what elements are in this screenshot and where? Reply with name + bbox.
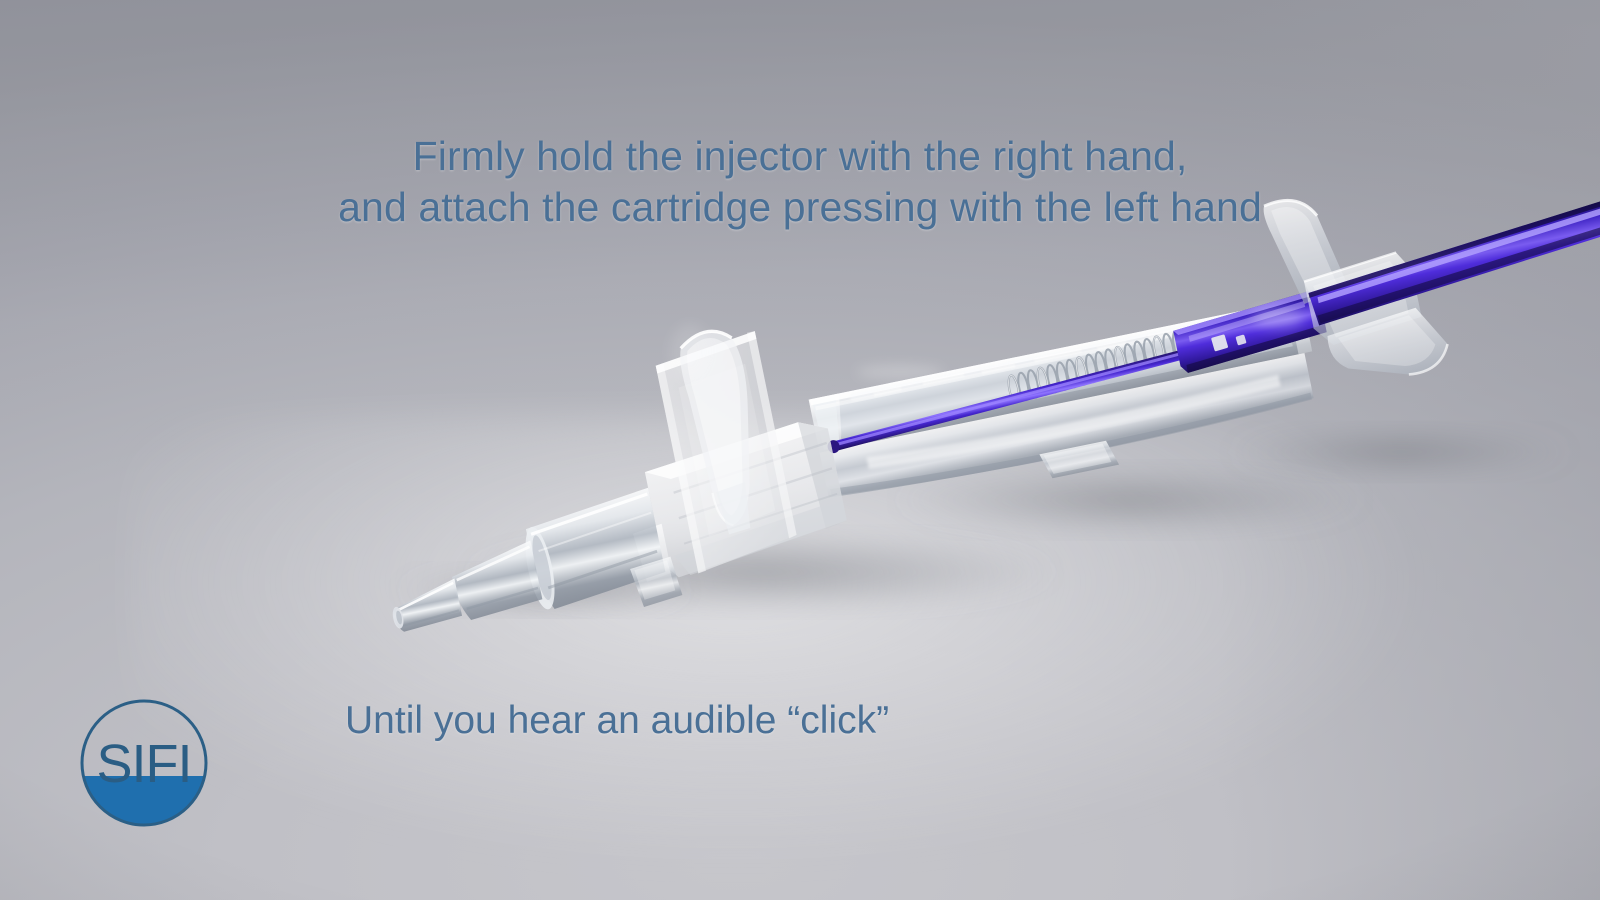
instruction-caption: Firmly hold the injector with the right … xyxy=(0,132,1600,231)
instruction-line-2: and attach the cartridge pressing with t… xyxy=(0,183,1600,231)
video-frame: Firmly hold the injector with the right … xyxy=(0,0,1600,900)
click-caption: Until you hear an audible “click” xyxy=(345,698,889,744)
sifi-logo: SIFI xyxy=(78,690,210,836)
instruction-line-1: Firmly hold the injector with the right … xyxy=(0,132,1600,180)
sifi-wordmark: SIFI xyxy=(96,734,191,794)
